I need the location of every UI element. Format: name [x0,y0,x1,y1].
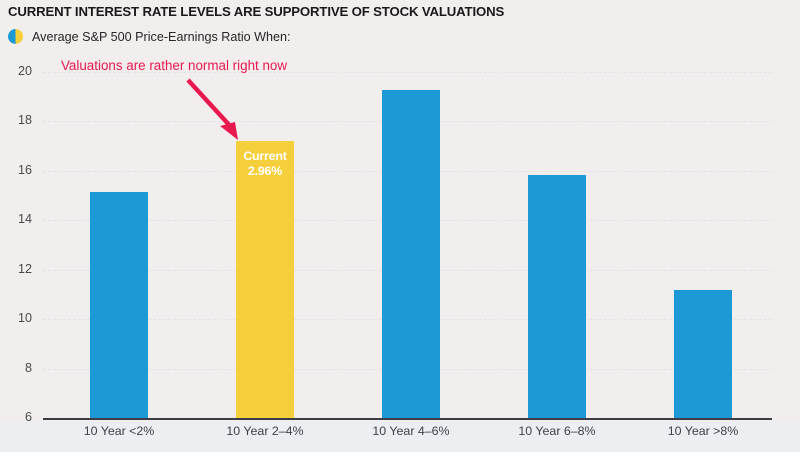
bar-10-year-lt-2[interactable] [90,192,148,418]
x-axis: 10 Year <2% 10 Year 2–4% 10 Year 4–6% 10… [43,424,772,448]
y-tick-label: 14 [0,212,32,226]
page-title: CURRENT INTEREST RATE LEVELS ARE SUPPORT… [8,4,504,19]
y-tick-label: 8 [0,361,32,375]
y-tick-label: 20 [0,64,32,78]
legend: Average S&P 500 Price-Earnings Ratio Whe… [8,29,291,44]
bar-label-rate: 2.96% [236,164,294,179]
x-tick-label-10-year-gt-8: 10 Year >8% [623,424,783,438]
y-tick-label: 16 [0,163,32,177]
y-tick-label: 6 [0,410,32,424]
bar-10-year-6-8[interactable] [528,175,586,418]
x-tick-label-10-year-4-6: 10 Year 4–6% [331,424,491,438]
legend-swatch-icon [8,29,23,44]
x-tick-label-10-year-2-4: 10 Year 2–4% [185,424,345,438]
bar-10-year-gt-8[interactable] [674,290,732,418]
chart-header: CURRENT INTEREST RATE LEVELS ARE SUPPORT… [0,0,800,58]
bar-10-year-2-4-current[interactable]: Current 2.96% [236,141,294,418]
chart-screenshot: CURRENT INTEREST RATE LEVELS ARE SUPPORT… [0,0,800,452]
bar-series: Current 2.96% [43,60,772,418]
bar-10-year-4-6[interactable] [382,90,440,418]
annotation-label: Valuations are rather normal right now [61,58,287,73]
bar-label-current: Current [236,149,294,164]
x-axis-line [43,418,772,420]
x-tick-label-10-year-6-8: 10 Year 6–8% [477,424,637,438]
y-tick-label: 12 [0,262,32,276]
bar-value-label: Current 2.96% [236,149,294,179]
x-tick-label-10-year-lt-2: 10 Year <2% [39,424,199,438]
y-tick-label: 10 [0,311,32,325]
legend-label: Average S&P 500 Price-Earnings Ratio Whe… [32,30,291,44]
y-axis: 20 18 16 14 12 10 8 6 [0,58,38,422]
y-tick-label: 18 [0,113,32,127]
